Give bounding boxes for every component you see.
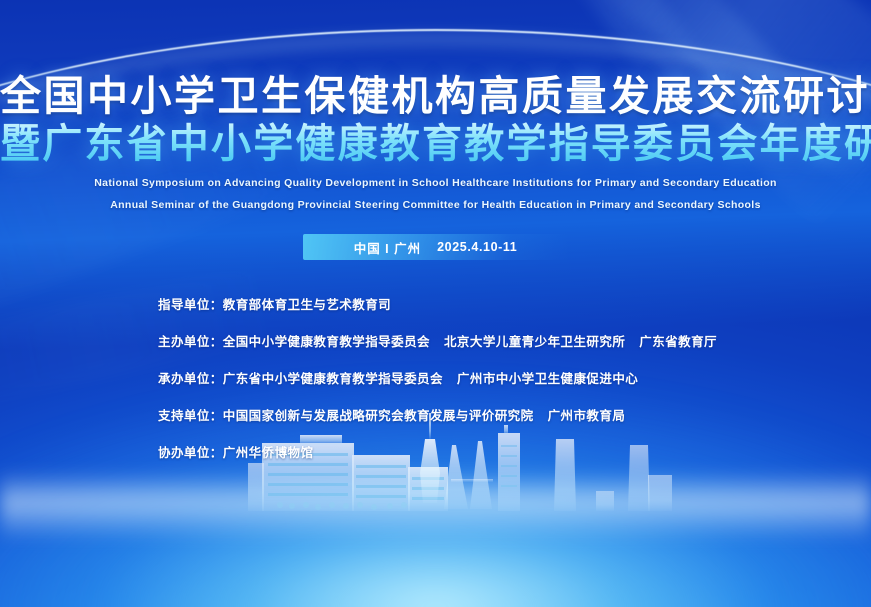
main-title-line2: 暨广东省中小学健康教育教学指导委员会年度研讨活动 [0, 120, 871, 168]
date-location-row: 中国 I 广州 2025.4.10-11 [0, 234, 871, 260]
organizer-row-undertaker: 承办单位： 广东省中小学健康教育教学指导委员会 广州市中小学卫生健康促进中心 [158, 368, 871, 387]
organizer-label: 主办单位： [158, 331, 223, 350]
organizer-label: 支持单位： [158, 405, 223, 424]
english-subtitle-line2: Annual Seminar of the Guangdong Provinci… [0, 198, 871, 212]
organizer-label: 承办单位： [158, 368, 223, 387]
organizer-value: 广州市中小学卫生健康促进中心 [457, 368, 638, 387]
english-subtitle-line1: National Symposium on Advancing Quality … [0, 176, 871, 190]
organizer-value: 广东省教育厅 [639, 331, 717, 350]
organizer-value: 全国中小学健康教育教学指导委员会 [223, 331, 430, 350]
date-text: 2025.4.10-11 [437, 240, 517, 254]
organizer-value: 教育部体育卫生与艺术教育司 [223, 294, 391, 313]
ground-haze [0, 471, 871, 541]
organizer-value: 中国国家创新与发展战略研究会教育发展与评价研究院 [223, 405, 534, 424]
organizer-values: 全国中小学健康教育教学指导委员会 北京大学儿童青少年卫生研究所 广东省教育厅 [223, 331, 717, 350]
organizer-label: 指导单位： [158, 294, 223, 313]
main-title-line1: 全国中小学卫生保健机构高质量发展交流研讨活动 [0, 72, 871, 120]
organizer-values: 广东省中小学健康教育教学指导委员会 广州市中小学卫生健康促进中心 [223, 368, 638, 387]
organizer-values: 中国国家创新与发展战略研究会教育发展与评价研究院 广州市教育局 [223, 405, 626, 424]
organizer-value: 广州华侨博物馆 [223, 442, 314, 461]
date-location-bar: 中国 I 广州 2025.4.10-11 [303, 234, 569, 260]
organizer-row-host: 主办单位： 全国中小学健康教育教学指导委员会 北京大学儿童青少年卫生研究所 广东… [158, 331, 871, 350]
organizer-values: 广州华侨博物馆 [223, 442, 314, 461]
organizer-list: 指导单位： 教育部体育卫生与艺术教育司 主办单位： 全国中小学健康教育教学指导委… [158, 294, 871, 461]
location-text: 中国 I 广州 [354, 238, 421, 257]
organizer-value: 广东省中小学健康教育教学指导委员会 [223, 368, 443, 387]
organizer-row-guidance: 指导单位： 教育部体育卫生与艺术教育司 [158, 294, 871, 313]
conference-poster: 全国中小学卫生保健机构高质量发展交流研讨活动 暨广东省中小学健康教育教学指导委员… [0, 0, 871, 607]
organizer-row-supporter: 支持单位： 中国国家创新与发展战略研究会教育发展与评价研究院 广州市教育局 [158, 405, 871, 424]
organizer-values: 教育部体育卫生与艺术教育司 [223, 294, 391, 313]
organizer-label: 协办单位： [158, 442, 223, 461]
title-block: 全国中小学卫生保健机构高质量发展交流研讨活动 暨广东省中小学健康教育教学指导委员… [0, 0, 871, 212]
organizer-row-coorganizer: 协办单位： 广州华侨博物馆 [158, 442, 871, 461]
organizer-value: 广州市教育局 [548, 405, 626, 424]
organizer-value: 北京大学儿童青少年卫生研究所 [444, 331, 625, 350]
